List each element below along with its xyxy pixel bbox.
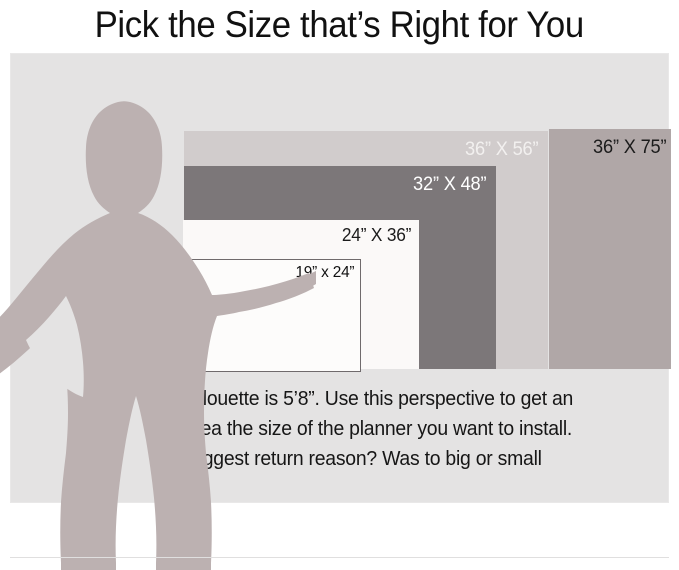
size-label-36x56: 36” X 56” <box>465 139 538 161</box>
bottom-divider <box>10 557 669 558</box>
page-title: Pick the Size that’s Right for You <box>95 5 584 45</box>
size-rect-36x75[interactable]: 36” X 75” <box>549 129 671 369</box>
comparison-panel: 36” X 75” 36” X 56” 32” X 48” 24” X 36” … <box>10 53 669 503</box>
description-text: Silouette is 5’8”. Use this perspective … <box>186 384 652 474</box>
size-comparison-poster: Pick the Size that’s Right for You 36” X… <box>0 0 679 570</box>
size-rect-19x24[interactable]: 19” x 24” <box>183 259 361 372</box>
size-label-32x48: 32” X 48” <box>413 174 486 196</box>
size-label-24x36: 24” X 36” <box>342 225 411 246</box>
size-label-19x24: 19” x 24” <box>295 264 354 282</box>
title-bar: Pick the Size that’s Right for You <box>0 0 679 50</box>
size-label-36x75: 36” X 75” <box>593 137 666 159</box>
